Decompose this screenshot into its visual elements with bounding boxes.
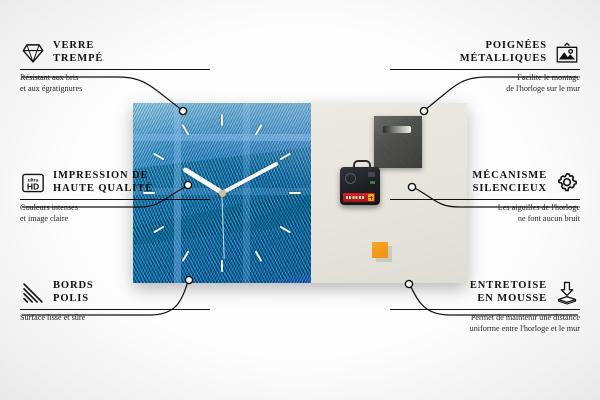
battery-plus-terminal bbox=[368, 194, 374, 201]
callout-title-line2: SILENCIEUX bbox=[473, 183, 547, 194]
gear-icon bbox=[554, 170, 580, 196]
mechanism-knob bbox=[368, 172, 375, 177]
callout-bords-polis[interactable]: BORDS POLIS Surface lisse et sûre bbox=[20, 280, 210, 324]
callout-title-line1: ENTRETOISE bbox=[470, 280, 547, 291]
callout-subtitle-line2: et image claire bbox=[20, 214, 68, 223]
callout-entretoise-en-mousse[interactable]: ENTRETOISE EN MOUSSE Permet de maintenir… bbox=[390, 280, 580, 335]
battery bbox=[343, 193, 375, 202]
callout-rule bbox=[390, 199, 580, 200]
callout-rule bbox=[390, 309, 580, 310]
clock-center-pin bbox=[219, 190, 226, 197]
ultra-hd-icon: ultra HD bbox=[20, 170, 46, 196]
clock-tick bbox=[221, 114, 223, 193]
callout-title-line2: EN MOUSSE bbox=[477, 293, 547, 304]
callout-subtitle-line1: Les aiguilles de l'horloge bbox=[498, 203, 580, 212]
callout-impression-haute-qualite[interactable]: ultra HD IMPRESSION DE HAUTE QUALITÉ Cou… bbox=[20, 170, 210, 225]
callout-title-line2: POLIS bbox=[53, 293, 89, 304]
callout-rule bbox=[20, 199, 210, 200]
foam-spacer bbox=[372, 242, 388, 258]
callout-verre-trempe[interactable]: VERRE TREMPÉ Résistant aux bris et aux é… bbox=[20, 40, 210, 95]
callout-title-line2: HAUTE QUALITÉ bbox=[53, 183, 153, 194]
callout-title-line2: TREMPÉ bbox=[53, 53, 103, 64]
clock-tick bbox=[222, 192, 301, 194]
mechanism-hanging-loop bbox=[353, 160, 371, 171]
quartz-mechanism bbox=[340, 167, 380, 205]
callout-subtitle-line2: et aux égratignures bbox=[20, 84, 82, 93]
callout-title-line1: POIGNÉES bbox=[486, 40, 547, 51]
callout-mecanisme-silencieux[interactable]: MÉCANISME SILENCIEUX Les aiguilles de l'… bbox=[390, 170, 580, 225]
callout-subtitle-line1: Permet de maintenir une distance bbox=[471, 313, 580, 322]
diamond-icon bbox=[20, 40, 46, 66]
callout-poignees-metalliques[interactable]: POIGNÉES MÉTALLIQUES Facilite le montage… bbox=[390, 40, 580, 95]
callout-rule bbox=[20, 309, 210, 310]
mechanism-green-marker bbox=[370, 181, 375, 184]
callout-subtitle-line1: Facilite le montage bbox=[517, 73, 580, 82]
callout-subtitle-line2: ne font aucun bruit bbox=[518, 214, 580, 223]
mechanism-dial bbox=[345, 173, 356, 184]
callout-subtitle-line1: Couleurs intenses bbox=[20, 203, 78, 212]
callout-subtitle-line2: uniforme entre l'horloge et le mur bbox=[470, 324, 580, 333]
hanger-keyhole-slot bbox=[383, 126, 411, 133]
metal-hanger-plate bbox=[374, 116, 422, 168]
callout-subtitle-line1: Résistant aux bris bbox=[20, 73, 78, 82]
callout-title-line1: MÉCANISME bbox=[472, 170, 547, 181]
infographic-canvas: VERRE TREMPÉ Résistant aux bris et aux é… bbox=[0, 0, 600, 400]
callout-rule bbox=[390, 69, 580, 70]
foam-spacer-icon bbox=[554, 280, 580, 306]
svg-text:HD: HD bbox=[27, 181, 39, 191]
battery-label bbox=[346, 196, 364, 199]
callout-title-line2: MÉTALLIQUES bbox=[460, 53, 547, 64]
callout-subtitle-line2: de l'horloge sur le mur bbox=[506, 84, 580, 93]
hanging-frame-icon bbox=[554, 40, 580, 66]
callout-rule bbox=[20, 69, 210, 70]
polished-edges-icon bbox=[20, 280, 46, 306]
callout-title-line1: VERRE bbox=[53, 40, 94, 51]
callout-subtitle-line1: Surface lisse et sûre bbox=[20, 313, 85, 322]
callout-title-line1: BORDS bbox=[53, 280, 94, 291]
callout-title-line1: IMPRESSION DE bbox=[53, 170, 148, 181]
